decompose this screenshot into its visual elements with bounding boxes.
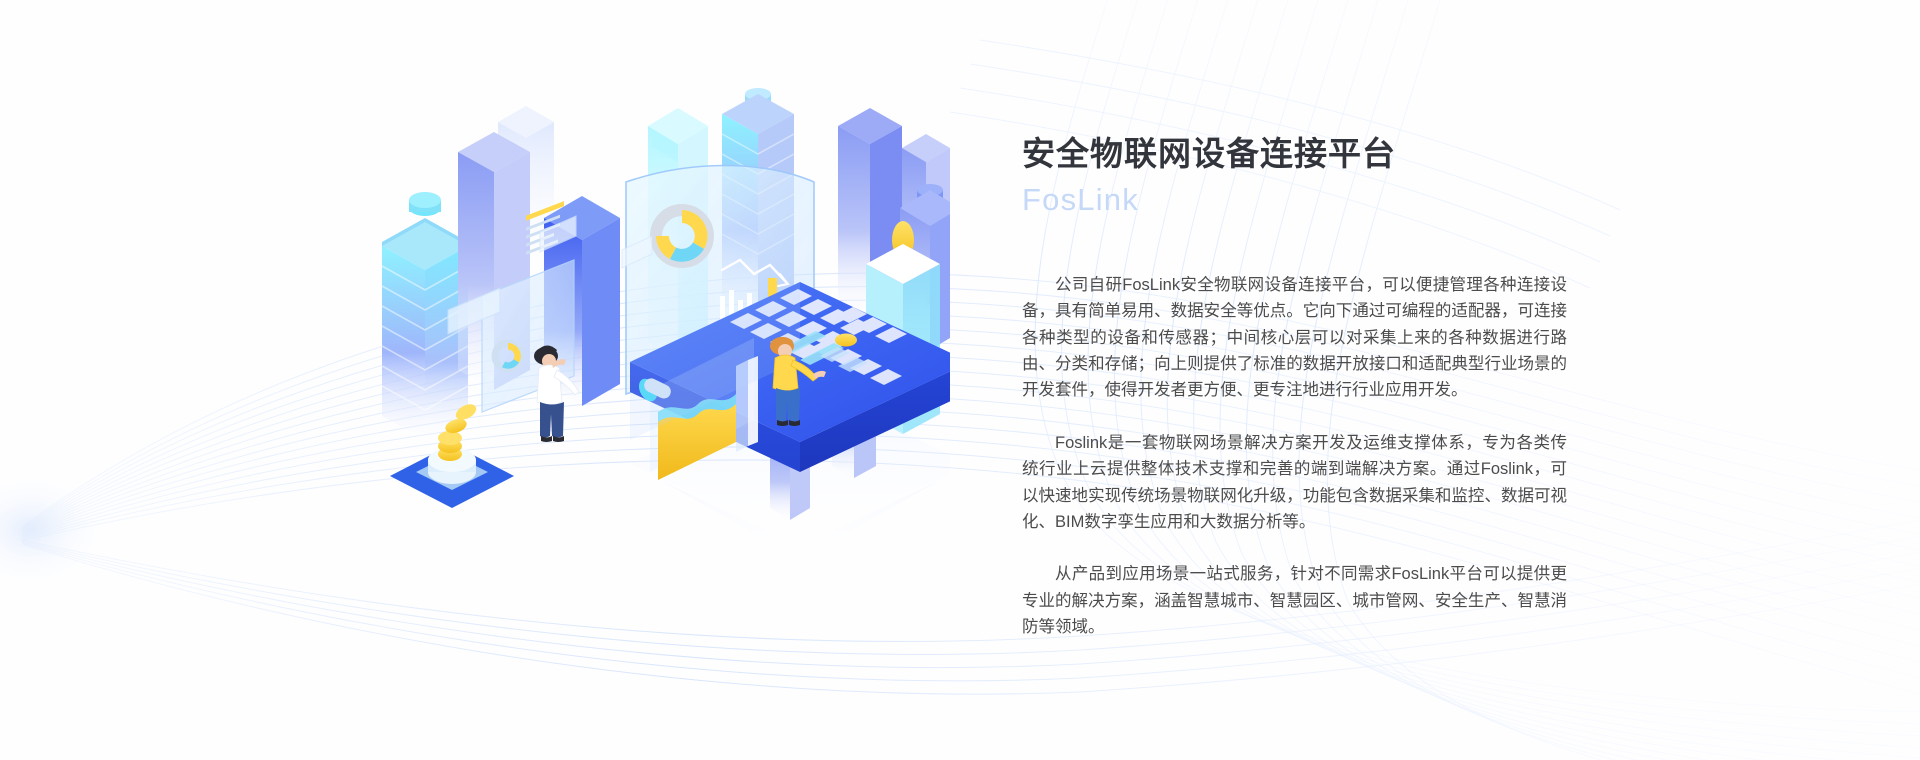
hero-page: 安全物联网设备连接平台 FosLink 公司自研FosLink安全物联网设备连接… [0,0,1920,760]
hero-text-column: 安全物联网设备连接平台 FosLink 公司自研FosLink安全物联网设备连接… [1022,133,1567,641]
paragraph-2: Foslink是一套物联网场景解决方案开发及运维支撑体系，专为各类传统行业上云提… [1022,430,1567,536]
page-subtitle: FosLink [1022,179,1567,221]
background-wave-decoration [0,0,1920,760]
page-title: 安全物联网设备连接平台 [1022,133,1567,176]
paragraph-1: 公司自研FosLink安全物联网设备连接平台，可以便捷管理各种连接设备，具有简单… [1022,272,1567,404]
coin-on-slab [835,334,857,347]
description-paragraphs: 公司自研FosLink安全物联网设备连接平台，可以便捷管理各种连接设备，具有简单… [1022,272,1567,641]
paragraph-3: 从产品到应用场景一站式服务，针对不同需求FosLink平台可以提供更专业的解决方… [1022,561,1567,640]
isometric-iot-platform-illustration [330,60,950,650]
